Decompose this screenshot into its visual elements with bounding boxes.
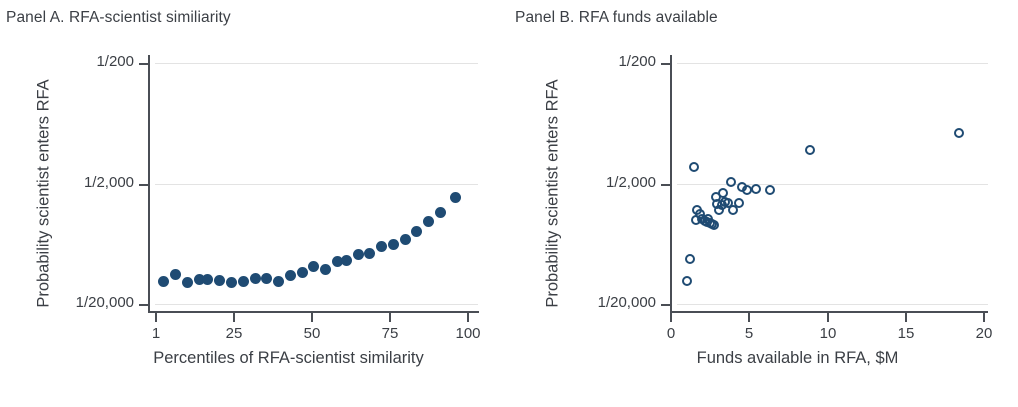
data-point bbox=[226, 277, 237, 288]
panel-b-y-tick-2 bbox=[661, 304, 670, 306]
data-point bbox=[285, 270, 296, 281]
data-point bbox=[341, 255, 352, 266]
panel-b-y-tick-label-1: 1/2,000 bbox=[538, 174, 656, 191]
panel-a-y-tick-label-0: 1/200 bbox=[16, 53, 134, 70]
panel-b-y-tick-0 bbox=[661, 63, 670, 65]
data-point bbox=[718, 188, 728, 198]
panel-a-x-tick-3 bbox=[389, 313, 391, 322]
panel-b-x-axis-title-text: Funds available in RFA, $M bbox=[697, 349, 899, 368]
panel-a-y-axis-title: Probability scientist enters RFA bbox=[35, 54, 54, 334]
panel-b-gridline-2 bbox=[677, 304, 988, 305]
panel-a-x-tick-label-3: 75 bbox=[382, 325, 399, 342]
data-point bbox=[689, 162, 699, 172]
panel-b-y-tick-1 bbox=[661, 184, 670, 186]
panel-b-x-tick-4 bbox=[983, 313, 985, 322]
data-point bbox=[250, 273, 261, 284]
panel-b-x-tick-label-4: 20 bbox=[976, 325, 993, 342]
panel-a: Panel A. RFA-scientist similiarity Proba… bbox=[0, 0, 509, 407]
data-point bbox=[353, 249, 364, 260]
panel-b-x-tick-3 bbox=[905, 313, 907, 322]
panel-b-gridline-1 bbox=[677, 184, 988, 185]
panel-a-y-tick-0 bbox=[139, 63, 148, 65]
panel-a-gridline-2 bbox=[155, 304, 478, 305]
data-point bbox=[297, 267, 308, 278]
panel-a-gridline-1 bbox=[155, 184, 478, 185]
data-point bbox=[182, 277, 193, 288]
panel-a-x-tick-label-4: 100 bbox=[455, 325, 480, 342]
panel-a-title: Panel A. RFA-scientist similiarity bbox=[6, 9, 231, 27]
panel-b-title: Panel B. RFA funds available bbox=[515, 9, 718, 27]
panel-a-x-axis-spine bbox=[148, 311, 479, 313]
data-point bbox=[261, 273, 272, 284]
panel-b-x-axis-spine bbox=[670, 311, 988, 313]
data-point bbox=[726, 177, 736, 187]
panel-b-gridline-0 bbox=[677, 63, 988, 64]
panel-a-y-tick-1 bbox=[139, 184, 148, 186]
panel-b-x-tick-label-3: 15 bbox=[898, 325, 915, 342]
panel-b-x-axis-title: Funds available in RFA, $M bbox=[509, 349, 1018, 368]
panel-b-x-tick-1 bbox=[748, 313, 750, 322]
panel-a-x-tick-0 bbox=[155, 313, 157, 322]
panel-a-x-tick-1 bbox=[233, 313, 235, 322]
data-point bbox=[158, 276, 169, 287]
data-point bbox=[376, 241, 387, 252]
data-point bbox=[751, 184, 761, 194]
panel-a-y-tick-label-2: 1/20,000 bbox=[16, 294, 134, 311]
figure-two-panel-scatter: Panel A. RFA-scientist similiarity Proba… bbox=[0, 0, 1018, 407]
panel-a-x-axis-title: Percentiles of RFA-scientist similarity bbox=[0, 349, 509, 368]
panel-a-x-tick-label-1: 25 bbox=[226, 325, 243, 342]
panel-b-y-tick-label-2: 1/20,000 bbox=[538, 294, 656, 311]
panel-b-x-tick-0 bbox=[670, 313, 672, 322]
panel-a-x-tick-4 bbox=[467, 313, 469, 322]
panel-a-x-tick-label-2: 50 bbox=[304, 325, 321, 342]
panel-a-x-tick-2 bbox=[311, 313, 313, 322]
panel-b-x-tick-label-0: 0 bbox=[667, 325, 675, 342]
panel-b-y-tick-label-0: 1/200 bbox=[538, 53, 656, 70]
panel-a-y-tick-2 bbox=[139, 304, 148, 306]
panel-a-x-tick-label-0: 1 bbox=[152, 325, 160, 342]
panel-b: Panel B. RFA funds available Probability… bbox=[509, 0, 1018, 407]
panel-b-x-tick-label-2: 10 bbox=[820, 325, 837, 342]
panel-a-y-tick-label-1: 1/2,000 bbox=[16, 174, 134, 191]
panel-b-y-axis-title: Probability scientist enters RFA bbox=[544, 54, 563, 334]
data-point bbox=[685, 254, 695, 264]
panel-b-x-tick-label-1: 5 bbox=[745, 325, 753, 342]
panel-a-gridline-0 bbox=[155, 63, 478, 64]
data-point bbox=[709, 220, 719, 230]
panel-a-x-axis-title-text: Percentiles of RFA-scientist similarity bbox=[153, 349, 424, 368]
panel-b-x-tick-2 bbox=[827, 313, 829, 322]
data-point bbox=[435, 207, 446, 218]
data-point bbox=[388, 239, 399, 250]
data-point bbox=[238, 276, 249, 287]
